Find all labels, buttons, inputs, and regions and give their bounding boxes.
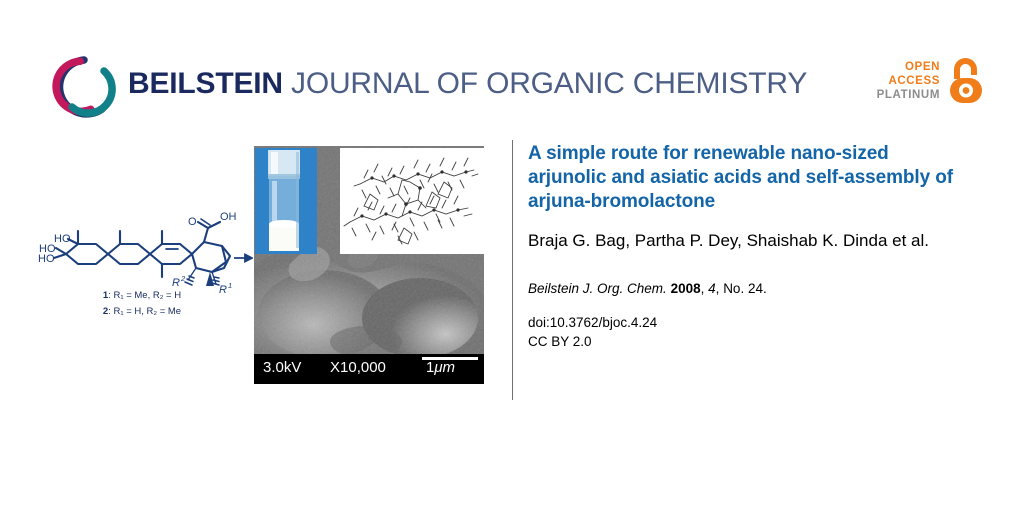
open-access-line-open: OPEN xyxy=(905,60,940,74)
article-metadata: A simple route for renewable nano-sized … xyxy=(528,142,968,351)
crystal-packing-inset xyxy=(340,148,484,254)
citation-comma-1: , xyxy=(701,281,705,296)
open-padlock-icon xyxy=(946,57,986,105)
legend-compound-2: 2 xyxy=(103,306,108,317)
legend-compound-1: 1 xyxy=(103,290,108,301)
article-license[interactable]: CC BY 2.0 xyxy=(528,332,968,351)
sem-magnification-label: X10,000 xyxy=(330,359,386,376)
sem-scale-label: 1μm xyxy=(426,359,455,376)
legend-row-1: 1: R₁ = Me, R₂ = H xyxy=(52,288,232,304)
open-access-line-access: ACCESS xyxy=(888,74,940,88)
label-carbonyl-o: O xyxy=(188,216,197,228)
vertical-divider xyxy=(512,140,513,400)
citation-article-number: No. 24. xyxy=(723,281,767,296)
sem-info-bar: 3.0kV X10,000 1μm xyxy=(254,354,484,384)
legend-text-1: R₁ = Me, R₂ = H xyxy=(113,290,181,301)
open-access-badge: OPEN ACCESS PLATINUM xyxy=(877,57,986,105)
beilstein-rings-logo-icon xyxy=(52,55,116,119)
brand-name-bold: BEILSTEIN xyxy=(128,67,283,100)
svg-text:2: 2 xyxy=(180,274,186,283)
masthead: BEILSTEIN JOURNAL OF ORGANIC CHEMISTRY O… xyxy=(0,0,1024,130)
legend-row-2: 2: R₁ = H, R₂ = Me xyxy=(52,304,232,320)
sem-scale-unit: μm xyxy=(434,359,455,376)
article-citation: Beilstein J. Org. Chem. 2008, 4, No. 24. xyxy=(528,279,968,299)
legend-text-2: R₁ = H, R₂ = Me xyxy=(113,306,181,317)
citation-comma-2: , xyxy=(716,281,720,296)
article-doi[interactable]: doi:10.3762/bjoc.4.24 xyxy=(528,313,968,332)
scheme-legend: 1: R₁ = Me, R₂ = H 2: R₁ = H, R₂ = Me xyxy=(52,288,232,320)
citation-year: 2008 xyxy=(671,281,701,296)
article-title[interactable]: A simple route for renewable nano-sized … xyxy=(528,142,968,214)
brand-name-light: JOURNAL OF ORGANIC CHEMISTRY xyxy=(283,67,807,100)
sem-micrograph: 3.0kV X10,000 1μm xyxy=(254,146,484,384)
label-ho-upper: HO xyxy=(54,233,71,245)
masthead-title: BEILSTEIN JOURNAL OF ORGANIC CHEMISTRY xyxy=(128,66,807,102)
label-hydroxyl-oh: OH xyxy=(220,211,237,223)
article-authors: Braja G. Bag, Partha P. Dey, Shaishab K.… xyxy=(528,228,968,253)
open-access-line-platinum: PLATINUM xyxy=(877,88,940,102)
citation-journal: Beilstein J. Org. Chem. xyxy=(528,281,667,296)
label-ho-mid: HO xyxy=(38,253,55,265)
graphical-abstract-panel: HO HO HO O OH R 2 R 1 1: R₁ = Me, R₂ = H… xyxy=(0,130,500,410)
sem-voltage-label: 3.0kV xyxy=(263,359,301,376)
open-access-words: OPEN ACCESS PLATINUM xyxy=(877,60,940,102)
vial-photo-inset xyxy=(255,148,317,254)
citation-volume: 4 xyxy=(708,281,716,296)
